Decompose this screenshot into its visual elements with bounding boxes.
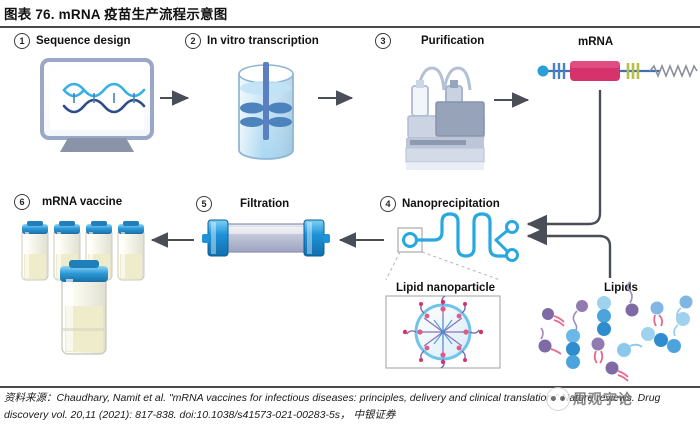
chromatography-machine-icon xyxy=(406,68,484,170)
vaccine-vials-icon xyxy=(22,221,144,354)
arrow-mrna-to-nanoprecipitation xyxy=(528,90,600,224)
beaker-stirrer-icon xyxy=(239,62,293,159)
lipids-icon xyxy=(539,282,693,381)
mrna-molecule-icon xyxy=(538,61,698,81)
source-citation-line1: Chaudhary, Namit et al. "mRNA vaccines f… xyxy=(57,392,661,404)
lipid-nanoparticle-icon xyxy=(386,296,500,368)
lnp-callout-lines xyxy=(386,252,500,280)
diagram-canvas: 1 Sequence design 2 In vitro transcripti… xyxy=(0,28,700,386)
arrow-lipids-to-nanoprecipitation xyxy=(528,236,610,278)
source-note: 资料来源：Chaudhary, Namit et al. "mRNA vacci… xyxy=(4,390,696,424)
source-prefix: 资料来源： xyxy=(4,392,57,404)
diagram-artwork xyxy=(0,28,700,386)
footer-divider xyxy=(0,386,700,388)
microfluidic-chip-icon xyxy=(398,214,518,261)
source-publisher: 中银证券 xyxy=(353,409,395,421)
filter-cartridge-icon xyxy=(202,220,330,256)
source-citation-line2: discovery vol. 20,11 (2021): 817-838. do… xyxy=(4,409,351,421)
page-title: 图表 76. mRNA 疫苗生产流程示意图 xyxy=(4,3,227,23)
monitor-dna-icon xyxy=(42,60,152,152)
